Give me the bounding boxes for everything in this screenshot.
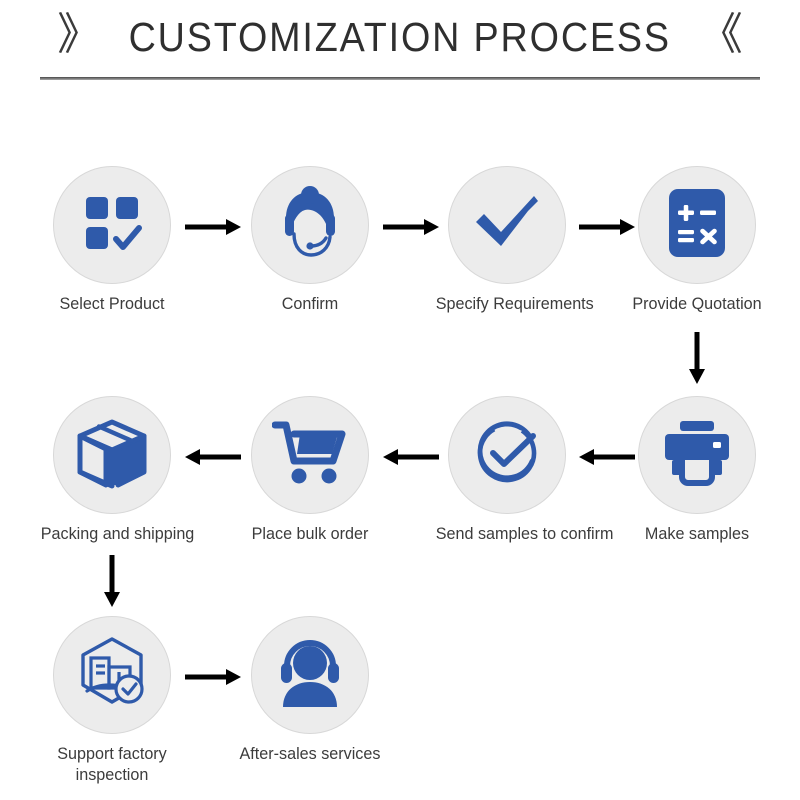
arrow-left-1 bbox=[184, 446, 242, 468]
flow-node-label: Send samples to confirm bbox=[436, 523, 579, 544]
flow-node-label: Make samples bbox=[626, 523, 769, 544]
factory-shield-check-icon bbox=[75, 636, 149, 715]
icon-circle bbox=[251, 396, 369, 514]
package-box-icon bbox=[75, 416, 149, 495]
flow-node-label: Provide Quotation bbox=[626, 293, 769, 314]
grid-check-icon bbox=[80, 191, 144, 260]
icon-circle bbox=[638, 166, 756, 284]
flow-node-select-product[interactable]: Select Product bbox=[37, 166, 187, 314]
icon-circle bbox=[53, 166, 171, 284]
icon-circle bbox=[448, 166, 566, 284]
flow-node-label: Specify Requirements bbox=[436, 293, 579, 314]
icon-circle bbox=[251, 166, 369, 284]
flow-node-make-samples[interactable]: Make samples bbox=[622, 396, 772, 544]
page-header: 》 CUSTOMIZATION PROCESS 《 bbox=[0, 0, 800, 95]
left-chevron-icon: 》 bbox=[57, 13, 101, 57]
flow-node-label: Place bulk order bbox=[239, 523, 382, 544]
flow-node-label: After-sales services bbox=[239, 743, 382, 764]
flow-node-specify-requirements[interactable]: Specify Requirements bbox=[432, 166, 582, 314]
page-title: CUSTOMIZATION PROCESS bbox=[129, 14, 671, 61]
flow-node-packing-and-shipping[interactable]: Packing and shipping bbox=[37, 396, 187, 544]
circle-check-icon bbox=[469, 415, 545, 496]
icon-circle bbox=[53, 396, 171, 514]
flow-node-label: Select Product bbox=[41, 293, 184, 314]
checkmark-icon bbox=[468, 184, 546, 267]
row2-to-row3-down-arrow bbox=[101, 554, 123, 608]
icon-circle bbox=[638, 396, 756, 514]
icon-circle bbox=[448, 396, 566, 514]
flow-node-after-sales-services[interactable]: After-sales services bbox=[235, 616, 385, 764]
flow-node-support-factory-inspection[interactable]: Support factory inspection bbox=[37, 616, 187, 785]
flow-node-send-samples-to-confirm[interactable]: Send samples to confirm bbox=[432, 396, 582, 544]
flow-node-label: Support factory inspection bbox=[41, 743, 184, 785]
title-row: 》 CUSTOMIZATION PROCESS 《 bbox=[0, 8, 800, 66]
operator-headset-icon bbox=[271, 184, 349, 267]
headset-person-icon bbox=[273, 638, 347, 713]
calculator-icon bbox=[665, 187, 729, 264]
shopping-cart-icon bbox=[272, 418, 348, 493]
flow-node-place-bulk-order[interactable]: Place bulk order bbox=[235, 396, 385, 544]
row1-to-row2-down-arrow bbox=[686, 331, 708, 385]
flow-node-confirm[interactable]: Confirm bbox=[235, 166, 385, 314]
printer-icon bbox=[661, 420, 733, 491]
icon-circle bbox=[53, 616, 171, 734]
arrow-right-4 bbox=[184, 666, 242, 688]
arrow-right-1 bbox=[184, 216, 242, 238]
flow-node-label: Packing and shipping bbox=[41, 523, 184, 544]
flow-node-provide-quotation[interactable]: Provide Quotation bbox=[622, 166, 772, 314]
right-chevron-icon: 《 bbox=[699, 13, 743, 57]
flow-node-label: Confirm bbox=[239, 293, 382, 314]
title-divider bbox=[40, 77, 760, 80]
icon-circle bbox=[251, 616, 369, 734]
